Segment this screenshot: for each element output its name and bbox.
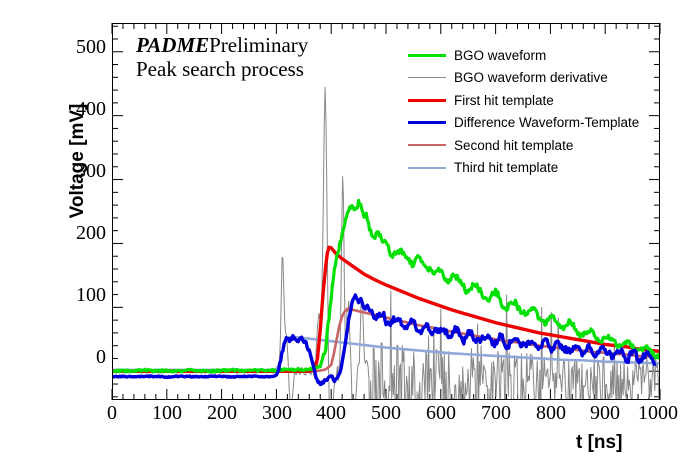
title-line-1: PADMEPreliminary <box>136 34 308 58</box>
legend-item-4[interactable]: Second hit template <box>408 134 658 157</box>
legend-label-1: BGO waveform derivative <box>454 70 608 85</box>
legend-item-2[interactable]: First hit template <box>408 89 658 112</box>
legend-swatch-1 <box>408 77 446 78</box>
legend-swatch-2 <box>408 99 446 102</box>
legend-swatch-4 <box>408 144 446 146</box>
experiment-name: PADME <box>136 33 209 57</box>
legend-item-5[interactable]: Third hit template <box>408 157 658 180</box>
legend-item-3[interactable]: Difference Waveform-Template <box>408 112 658 135</box>
legend-label-2: First hit template <box>454 93 554 108</box>
legend-swatch-3 <box>408 121 446 124</box>
legend-swatch-5 <box>408 167 446 169</box>
legend-label-4: Second hit template <box>454 138 573 153</box>
legend-label-3: Difference Waveform-Template <box>454 115 639 130</box>
legend-swatch-0 <box>408 54 446 57</box>
preliminary-label: Preliminary <box>209 33 308 57</box>
figure-root: Voltage [mV] t [ns] 0 100 200 300 400 50… <box>0 0 696 472</box>
title-line-2: Peak search process <box>136 58 308 82</box>
legend: BGO waveformBGO waveform derivativeFirst… <box>408 44 658 179</box>
legend-label-0: BGO waveform <box>454 48 546 63</box>
legend-label-5: Third hit template <box>454 160 558 175</box>
legend-item-1[interactable]: BGO waveform derivative <box>408 67 658 90</box>
legend-item-0[interactable]: BGO waveform <box>408 44 658 67</box>
chart-title-block: PADMEPreliminary Peak search process <box>136 34 308 81</box>
